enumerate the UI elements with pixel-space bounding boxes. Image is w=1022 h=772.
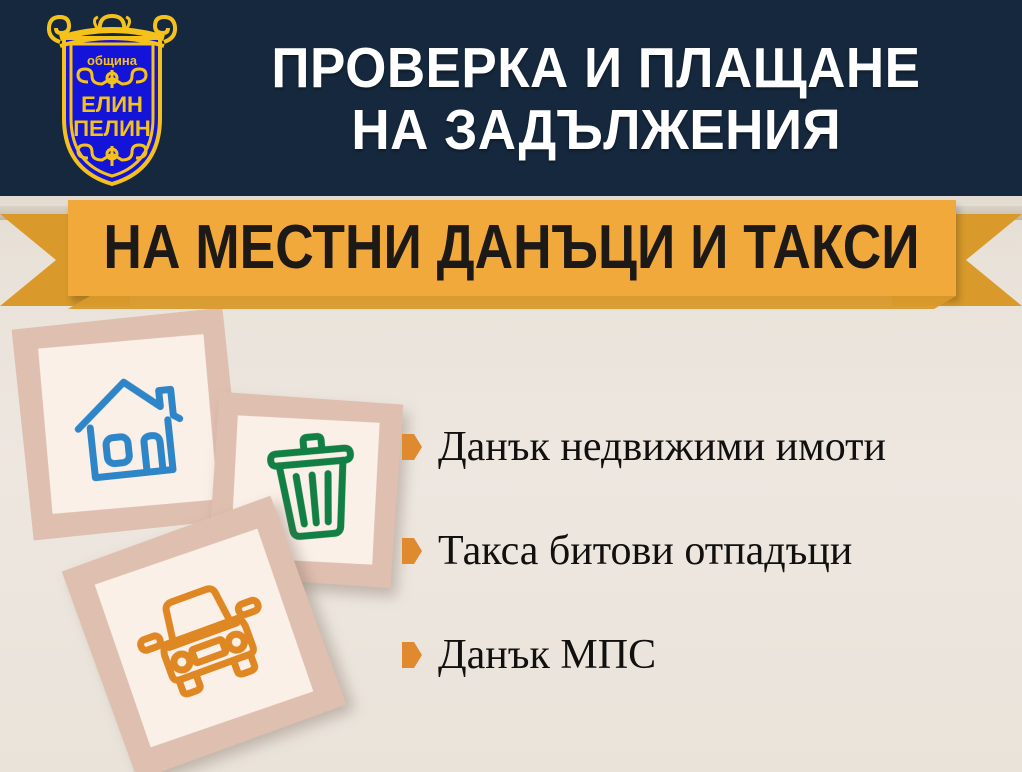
title-line-1: ПРОВЕРКА И ПЛАЩАНЕ xyxy=(271,37,920,99)
list-item-label: Такса битови отпадъци xyxy=(438,528,852,574)
municipality-crest-logo: община ЕЛИН ПЕЛИН xyxy=(44,8,180,188)
stamp-border-house xyxy=(12,308,245,541)
arrow-bullet-icon xyxy=(402,538,422,564)
crest-top-label: община xyxy=(87,53,138,68)
crest-name-line1: ЕЛИН xyxy=(81,92,143,117)
poster-canvas: община ЕЛИН ПЕЛИН xyxy=(0,0,1022,772)
stamp-card-property xyxy=(12,308,245,541)
list-item: Данък МПС xyxy=(402,632,1012,678)
crest-name-line2: ПЕЛИН xyxy=(73,116,151,141)
ribbon-label: НА МЕСТНИ ДАНЪЦИ И ТАКСИ xyxy=(104,217,920,279)
list-item: Такса битови отпадъци xyxy=(402,528,1012,574)
header-bar: община ЕЛИН ПЕЛИН xyxy=(0,0,1022,196)
subtitle-ribbon: НА МЕСТНИ ДАНЪЦИ И ТАКСИ xyxy=(0,196,1022,314)
title-line-2: НА ЗАДЪЛЖЕНИЯ xyxy=(351,99,841,161)
obligations-list: Данък недвижими имоти Такса битови отпад… xyxy=(402,424,1012,736)
arrow-bullet-icon xyxy=(402,434,422,460)
arrow-bullet-icon xyxy=(402,642,422,668)
poster-title: ПРОВЕРКА И ПЛАЩАНЕ НА ЗАДЪЛЖЕНИЯ xyxy=(186,16,1006,182)
list-item-label: Данък недвижими имоти xyxy=(438,424,886,470)
list-item: Данък недвижими имоти xyxy=(402,424,1012,470)
crest-icon: община ЕЛИН ПЕЛИН xyxy=(44,8,180,188)
ribbon-banner: НА МЕСТНИ ДАНЪЦИ И ТАКСИ xyxy=(68,200,956,296)
list-item-label: Данък МПС xyxy=(438,632,656,678)
